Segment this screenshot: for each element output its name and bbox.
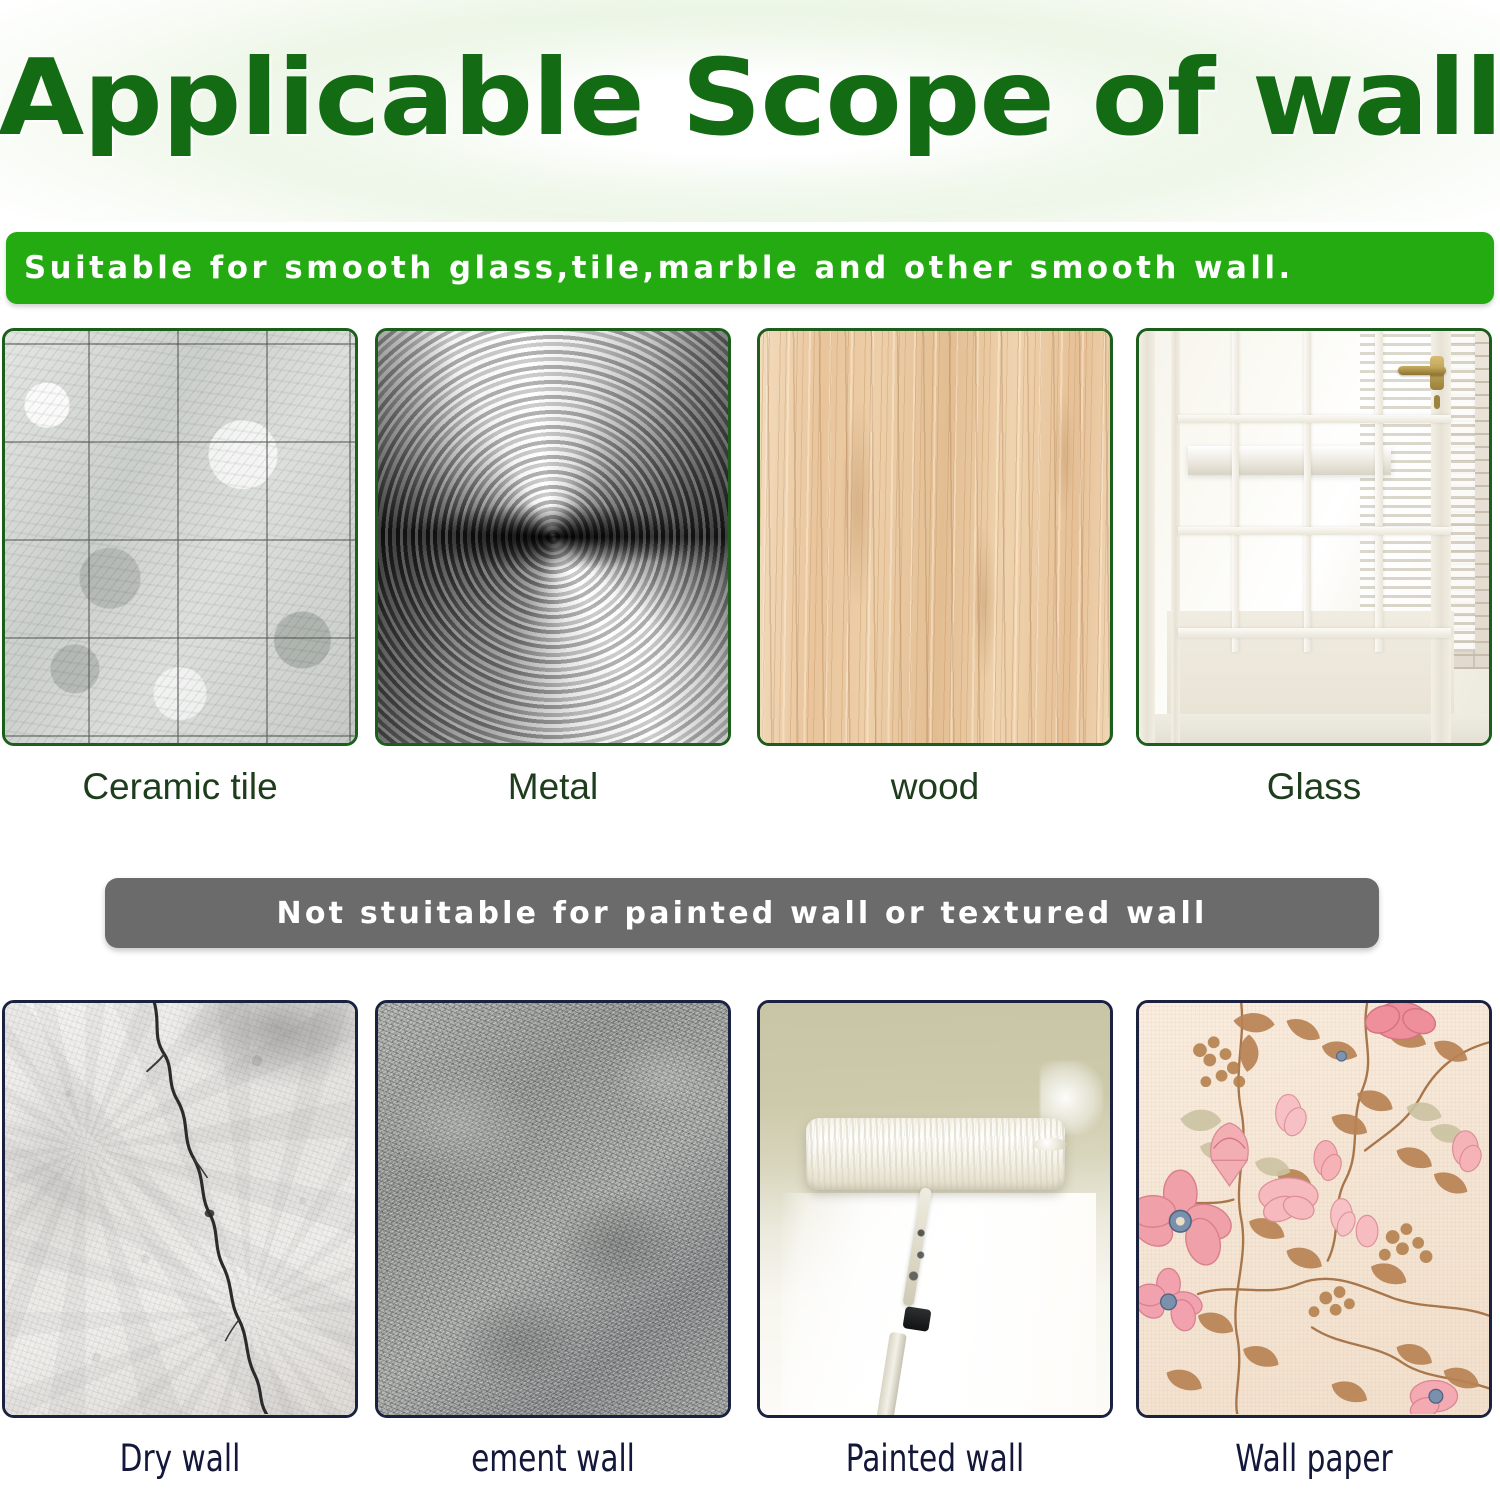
surface-label-painted-wall: Painted wall	[791, 1440, 1079, 1477]
roller-end-cap	[1033, 1138, 1067, 1151]
muntin-vertical-2	[1304, 331, 1312, 652]
surface-card-painted-wall[interactable]	[757, 1000, 1113, 1418]
brushed-metal-image	[378, 331, 728, 743]
cracked-concrete-image	[5, 1003, 355, 1415]
muntin-vertical-1	[1232, 331, 1240, 652]
surface-card-ceramic-tile[interactable]	[2, 328, 358, 746]
page-title: Applicable Scope of wall	[0, 46, 1500, 151]
ceramic-tile-image	[5, 331, 355, 743]
surface-label-metal: Metal	[373, 768, 733, 805]
door-right-stile	[1431, 331, 1450, 743]
door-left-stile	[1139, 331, 1155, 743]
unsuitable-surface-grid: Dry wall ement wall Painted wall	[0, 1000, 1500, 1500]
window-sill-detail	[1188, 446, 1391, 475]
blue-bud-icon	[1337, 1051, 1347, 1061]
door-handle-icon	[1398, 366, 1446, 375]
wood-knot-overlay	[760, 331, 1110, 743]
muntin-horizontal-1	[1178, 415, 1451, 423]
paint-roller-image	[760, 1003, 1110, 1415]
surface-card-glass[interactable]	[1136, 328, 1492, 746]
wet-paint-swath	[781, 1193, 1096, 1415]
surface-card-dry-wall[interactable]	[2, 1000, 358, 1418]
surface-card-wall-paper[interactable]	[1136, 1000, 1492, 1418]
muntin-vertical-3	[1375, 331, 1383, 652]
wall-crack-icon	[5, 1003, 355, 1414]
roller-collar-icon	[902, 1306, 931, 1332]
surface-label-cement-wall: ement wall	[409, 1440, 697, 1477]
muntin-horizontal-3	[1178, 628, 1451, 638]
door-keyhole-icon	[1434, 395, 1440, 409]
suitable-banner-text: Suitable for smooth glass,tile,marble an…	[24, 232, 1473, 304]
surface-label-wall-paper: Wall paper	[1170, 1440, 1458, 1477]
suitable-surface-grid: Ceramic tile Metal wood	[0, 328, 1500, 828]
surface-card-cement-wall[interactable]	[375, 1000, 731, 1418]
unsuitable-banner: Not stuitable for painted wall or textur…	[105, 878, 1379, 948]
surface-card-wood[interactable]	[757, 328, 1113, 746]
muntin-horizontal-2	[1178, 527, 1451, 535]
metal-sheen-overlay	[378, 331, 728, 743]
tile-grain-overlay	[5, 331, 355, 743]
suitable-banner: Suitable for smooth glass,tile,marble an…	[6, 232, 1494, 304]
surface-label-dry-wall: Dry wall	[36, 1440, 324, 1477]
header-banner: Applicable Scope of wall	[0, 0, 1500, 222]
glass-door-image	[1139, 331, 1489, 743]
floral-pattern-icon	[1139, 1003, 1489, 1414]
cement-blotch-overlay	[378, 1003, 728, 1415]
surface-label-glass: Glass	[1134, 768, 1494, 805]
rough-cement-image	[378, 1003, 728, 1415]
surface-label-wood: wood	[755, 768, 1115, 805]
wood-grain-image	[760, 331, 1110, 743]
unsuitable-banner-text: Not stuitable for painted wall or textur…	[105, 878, 1379, 948]
paint-roller-icon	[806, 1118, 1065, 1190]
door-inner-stile	[1171, 331, 1180, 743]
floral-wallpaper-image	[1139, 1003, 1489, 1415]
surface-label-ceramic-tile: Ceramic tile	[0, 768, 360, 805]
surface-card-metal[interactable]	[375, 328, 731, 746]
